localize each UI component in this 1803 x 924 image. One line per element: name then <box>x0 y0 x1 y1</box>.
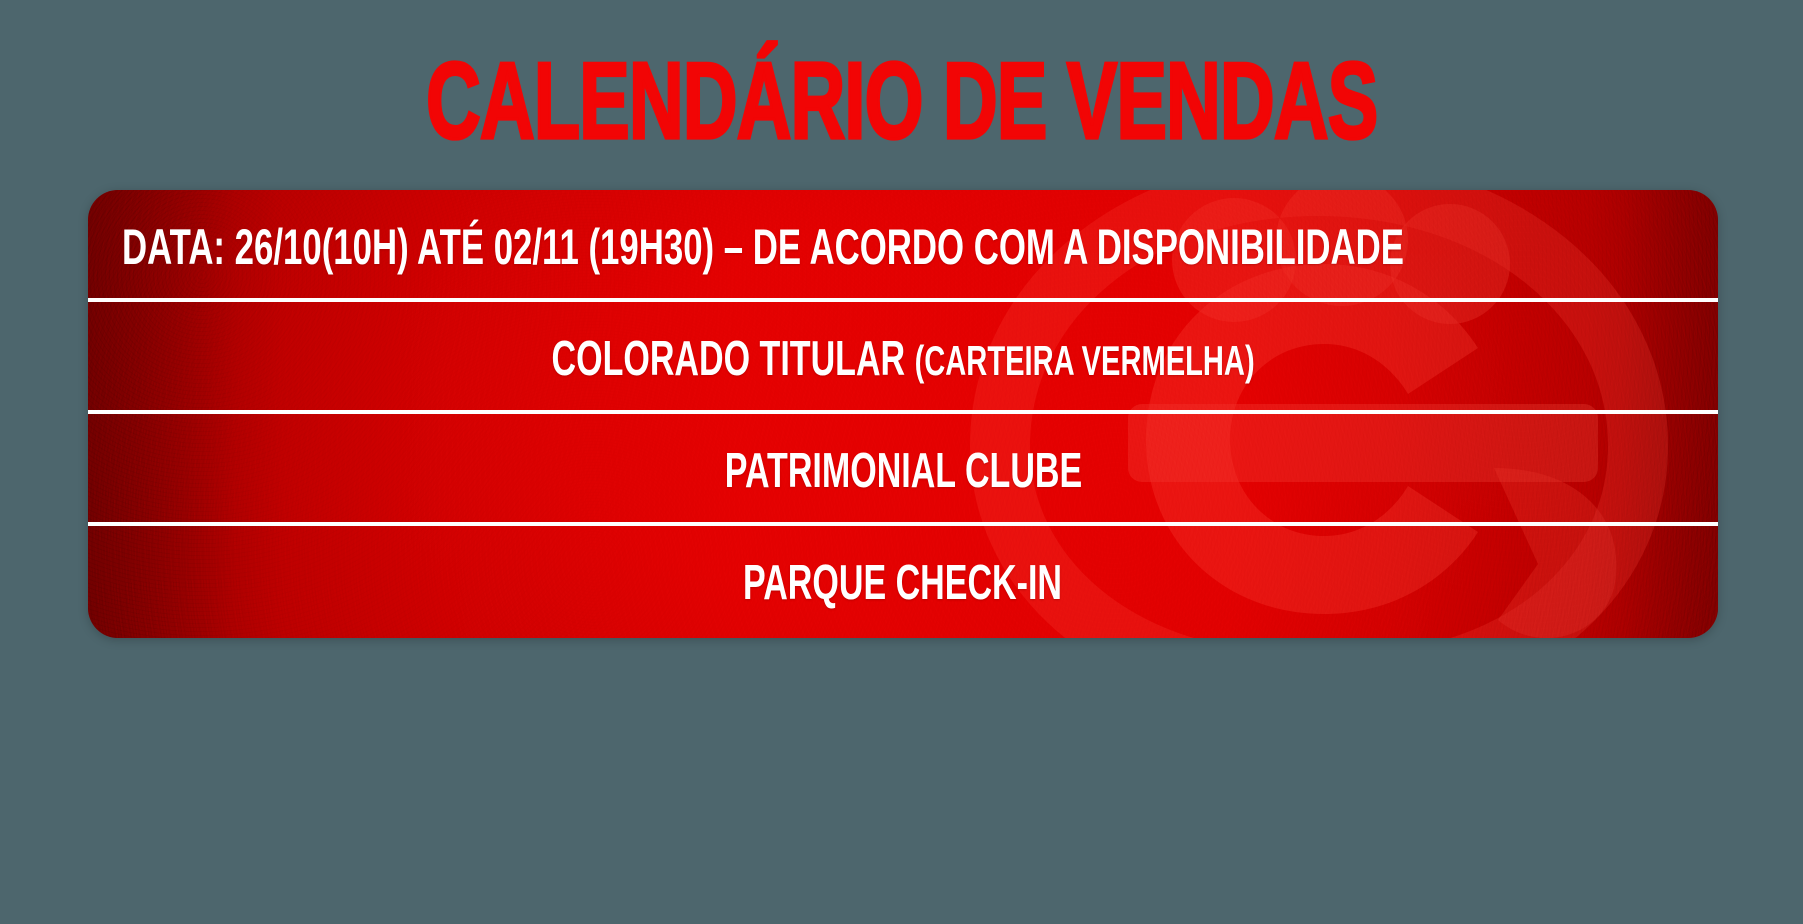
row-colorado-titular: COLORADO TITULAR (CARTEIRA VERMELHA) <box>88 302 1718 414</box>
row-colorado-label: COLORADO TITULAR <box>551 330 914 385</box>
calendar-rows: DATA: 26/10(10H) ATÉ 02/11 (19H30) – DE … <box>88 190 1718 638</box>
row-date: DATA: 26/10(10H) ATÉ 02/11 (19H30) – DE … <box>88 190 1718 302</box>
page-title: CALENDÁRIO DE VENDAS <box>426 46 1377 155</box>
page-title-container: CALENDÁRIO DE VENDAS <box>0 52 1803 149</box>
row-divider-1 <box>88 298 1718 302</box>
sales-calendar-card: DATA: 26/10(10H) ATÉ 02/11 (19H30) – DE … <box>88 190 1718 638</box>
row-colorado-suffix: (CARTEIRA VERMELHA) <box>914 338 1254 385</box>
row-parque-checkin: PARQUE CHECK-IN <box>88 526 1718 638</box>
row-divider-3 <box>88 522 1718 526</box>
row-date-text: DATA: 26/10(10H) ATÉ 02/11 (19H30) – DE … <box>122 221 1404 271</box>
poster-stage: CALENDÁRIO DE VENDAS DATA: 26/10 <box>0 0 1803 924</box>
row-checkin-text: PARQUE CHECK-IN <box>744 558 1063 607</box>
row-colorado-text-group: COLORADO TITULAR (CARTEIRA VERMELHA) <box>551 333 1254 382</box>
row-divider-2 <box>88 410 1718 414</box>
row-patrimonial-text: PATRIMONIAL CLUBE <box>724 446 1081 495</box>
row-patrimonial-clube: PATRIMONIAL CLUBE <box>88 414 1718 526</box>
